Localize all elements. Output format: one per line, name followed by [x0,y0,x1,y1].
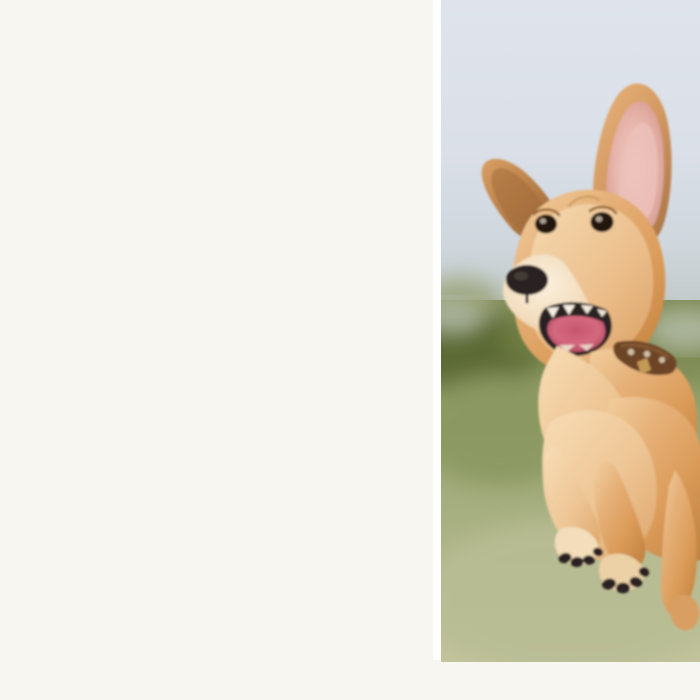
panel-photo-gap [433,0,441,660]
nutrition-info-card: Full of nutrients Provides essential nut… [0,0,700,700]
text-panel [0,0,438,660]
dog-photo-illustration [441,0,700,662]
dog-photo [441,0,700,662]
footer-gold-band [0,660,700,700]
